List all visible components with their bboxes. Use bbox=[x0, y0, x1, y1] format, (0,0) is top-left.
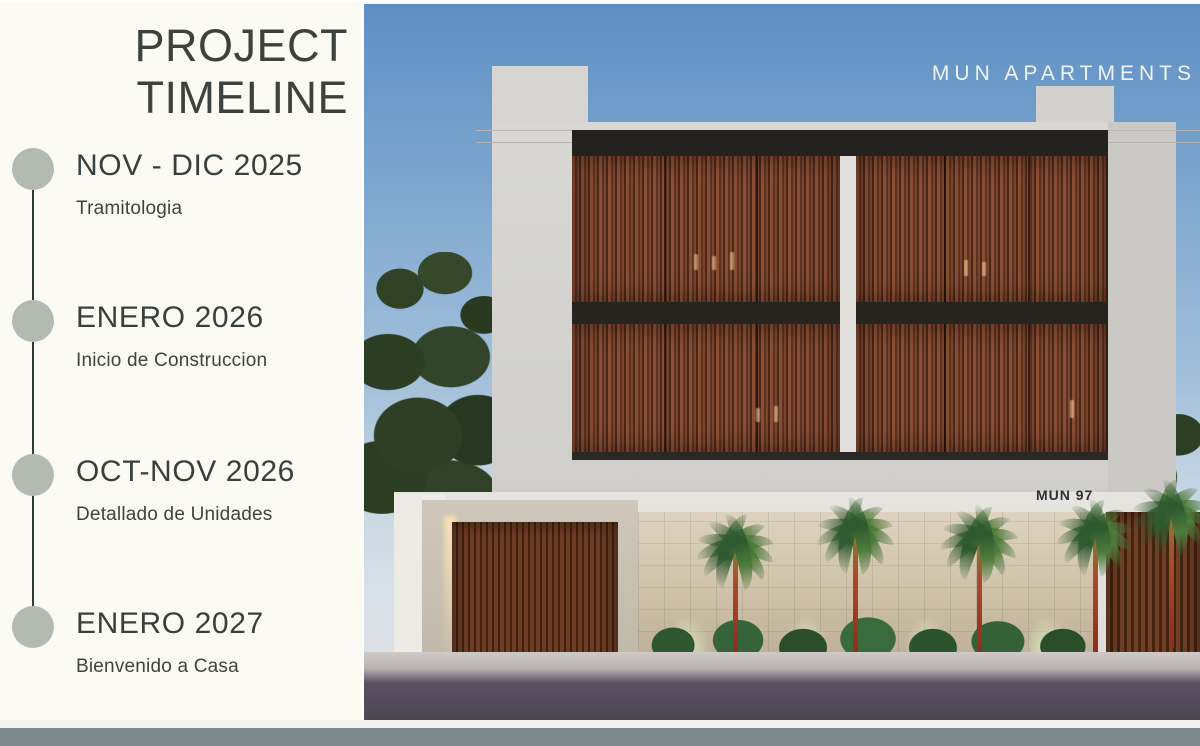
facade-mullion bbox=[1028, 324, 1030, 452]
facade-mullion bbox=[944, 156, 946, 302]
facade-mullion bbox=[1028, 156, 1030, 302]
interior-light bbox=[694, 254, 698, 270]
timeline-marker-dot bbox=[12, 606, 54, 648]
interior-light bbox=[730, 252, 734, 270]
bottom-spacer bbox=[0, 720, 1200, 728]
interior-light bbox=[756, 408, 760, 422]
bottom-chrome-bar bbox=[0, 728, 1200, 746]
facade-mullion bbox=[756, 324, 758, 452]
page-title: PROJECT TIMELINE bbox=[0, 20, 348, 124]
wood-slat-panel bbox=[572, 324, 840, 452]
facade-center-column bbox=[840, 156, 856, 452]
timeline-entry-period: OCT-NOV 2026 bbox=[76, 453, 362, 491]
timeline-marker-dot bbox=[12, 300, 54, 342]
timeline-entry-milestone: Bienvenido a Casa bbox=[76, 655, 362, 679]
pedestrian-gate bbox=[452, 522, 618, 666]
wood-slat-panel bbox=[856, 156, 1108, 302]
page-title-line-2: TIMELINE bbox=[0, 72, 348, 124]
street-asphalt bbox=[364, 652, 1200, 726]
brand-overlay-label: MUN APARTMENTS bbox=[932, 62, 1196, 86]
interior-light bbox=[964, 260, 968, 276]
timeline-entry-period: NOV - DIC 2025 bbox=[76, 147, 362, 185]
timeline-entry-period: ENERO 2026 bbox=[76, 299, 362, 337]
interior-light bbox=[774, 406, 778, 422]
facade-mullion bbox=[756, 156, 758, 302]
interior-light bbox=[712, 256, 716, 270]
facade-mullion bbox=[664, 156, 666, 302]
wood-slat-panel bbox=[856, 324, 1108, 452]
slide-canvas: PROJECT TIMELINE NOV - DIC 2025 Tramitol… bbox=[0, 0, 1200, 746]
interior-light bbox=[982, 262, 986, 276]
timeline-marker-dot bbox=[12, 454, 54, 496]
page-title-line-1: PROJECT bbox=[134, 20, 348, 71]
palm-tree bbox=[800, 437, 910, 652]
timeline-entry-period: ENERO 2027 bbox=[76, 605, 362, 643]
palm-tree bbox=[924, 447, 1034, 652]
wood-slat-panel bbox=[572, 156, 840, 302]
facade-mullion bbox=[944, 324, 946, 452]
timeline-entry: NOV - DIC 2025 Tramitologia bbox=[76, 147, 362, 221]
timeline-entry-milestone: Detallado de Unidades bbox=[76, 503, 362, 527]
timeline-entry: ENERO 2026 Inicio de Construccion bbox=[76, 299, 362, 373]
interior-light bbox=[1070, 400, 1074, 418]
facade-frame-top bbox=[572, 130, 1108, 156]
timeline-entry: ENERO 2027 Bienvenido a Casa bbox=[76, 605, 362, 679]
timeline-axis bbox=[32, 170, 34, 630]
facade-mullion bbox=[664, 324, 666, 452]
building-render-image: MUN 97 MUN APARTMENTS bbox=[364, 4, 1200, 726]
building-sign: MUN 97 bbox=[1036, 487, 1093, 503]
palm-tree bbox=[1116, 418, 1200, 648]
timeline-marker-dot bbox=[12, 148, 54, 190]
background-tree bbox=[364, 252, 508, 514]
timeline-entry: OCT-NOV 2026 Detallado de Unidades bbox=[76, 453, 362, 527]
project-timeline-panel: PROJECT TIMELINE NOV - DIC 2025 Tramitol… bbox=[0, 0, 362, 728]
timeline-entry-milestone: Inicio de Construccion bbox=[76, 349, 362, 373]
timeline-entry-milestone: Tramitologia bbox=[76, 197, 362, 221]
palm-tree bbox=[680, 452, 790, 652]
